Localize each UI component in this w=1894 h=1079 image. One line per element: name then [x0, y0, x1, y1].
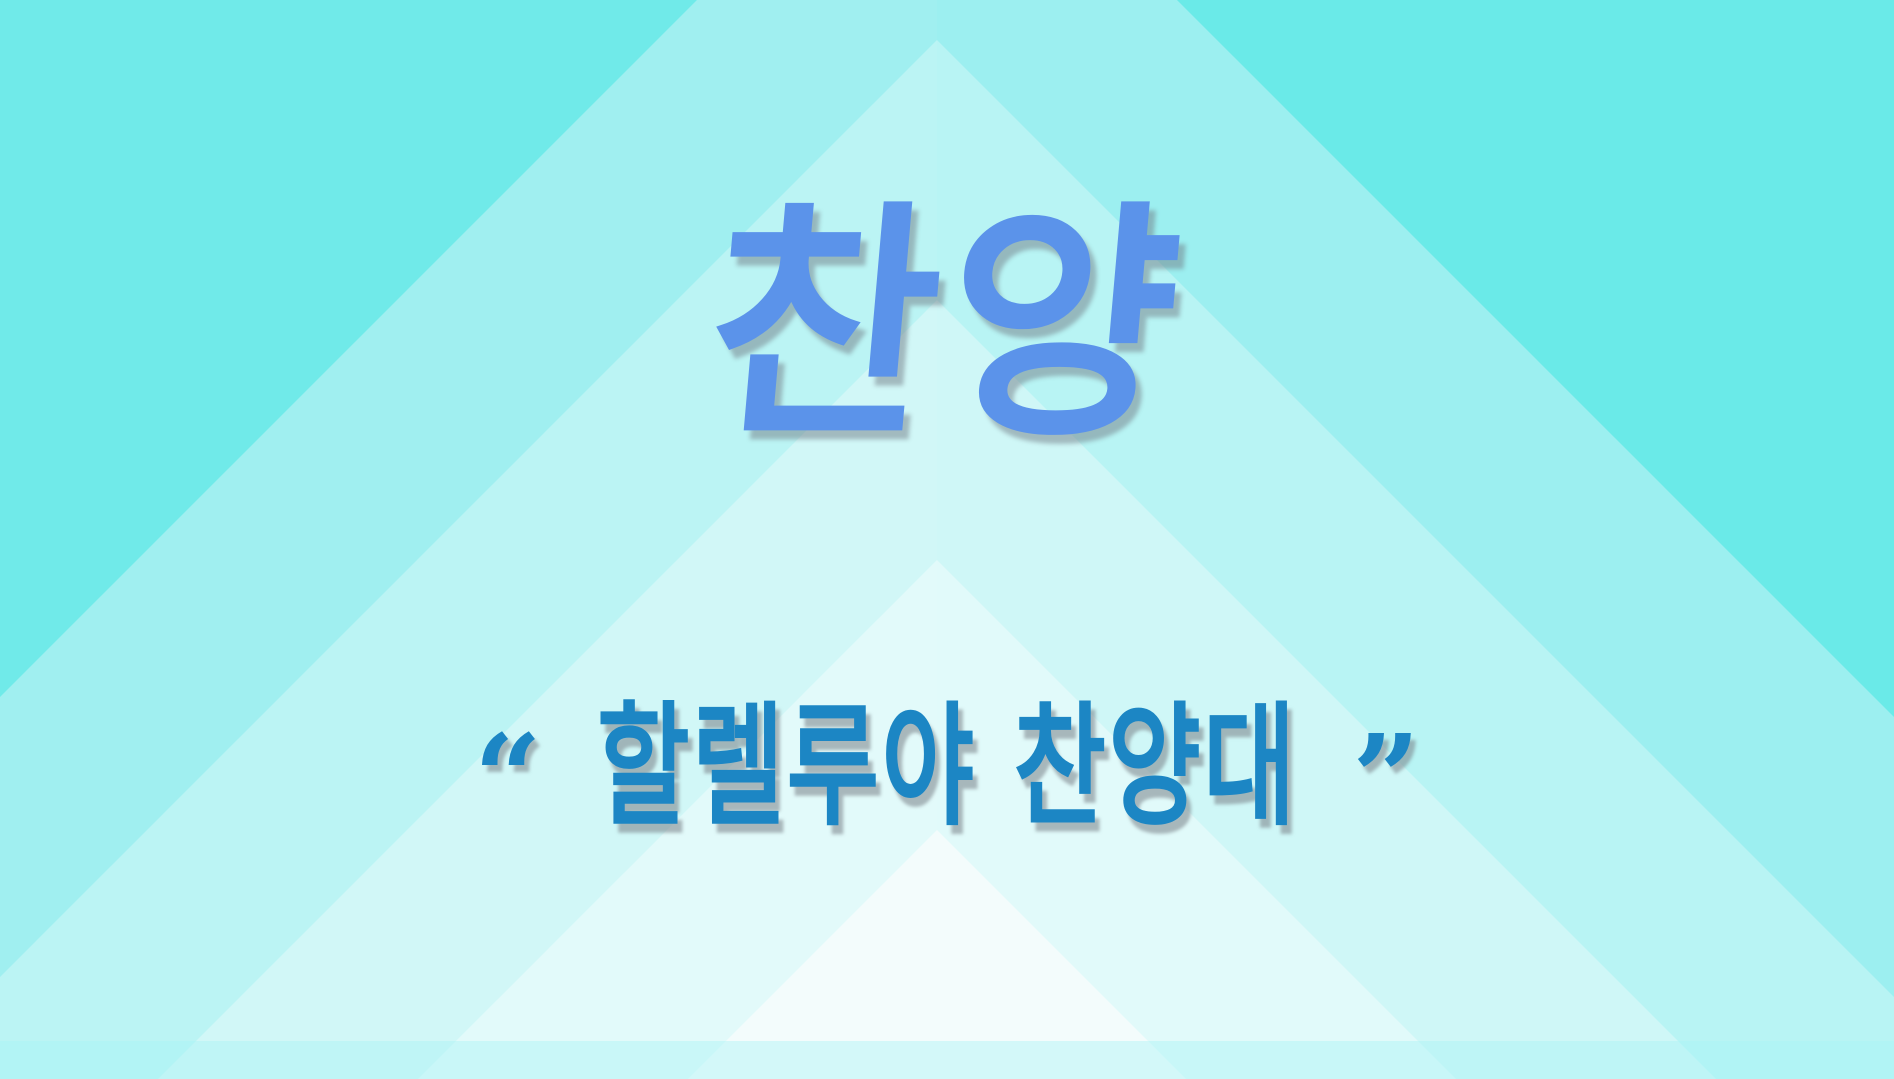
chevron-band-5: [0, 0, 1894, 1079]
subtitle-text: 할렐루야 찬양대: [597, 700, 1298, 833]
subtitle-group: “ 할렐루야 찬양대 ”: [0, 700, 1894, 804]
background-chevron-pattern: [0, 0, 1894, 1079]
quote-open-icon: “: [474, 743, 542, 814]
slide-content: 찬양 “ 할렐루야 찬양대 ”: [0, 0, 1894, 1079]
page-title: 찬양: [0, 196, 1894, 456]
quote-close-icon: ”: [1352, 743, 1420, 814]
slide-canvas: 찬양 “ 할렐루야 찬양대 ”: [0, 0, 1894, 1079]
chevron-band-1: [0, 0, 1894, 1079]
chevron-band-3: [0, 0, 1894, 1079]
chevron-band-4: [0, 0, 1894, 1079]
chevron-band-2: [0, 0, 1894, 1079]
center-seam-divider: [0, 0, 937, 1079]
bottom-accent-band: [0, 1041, 1894, 1079]
